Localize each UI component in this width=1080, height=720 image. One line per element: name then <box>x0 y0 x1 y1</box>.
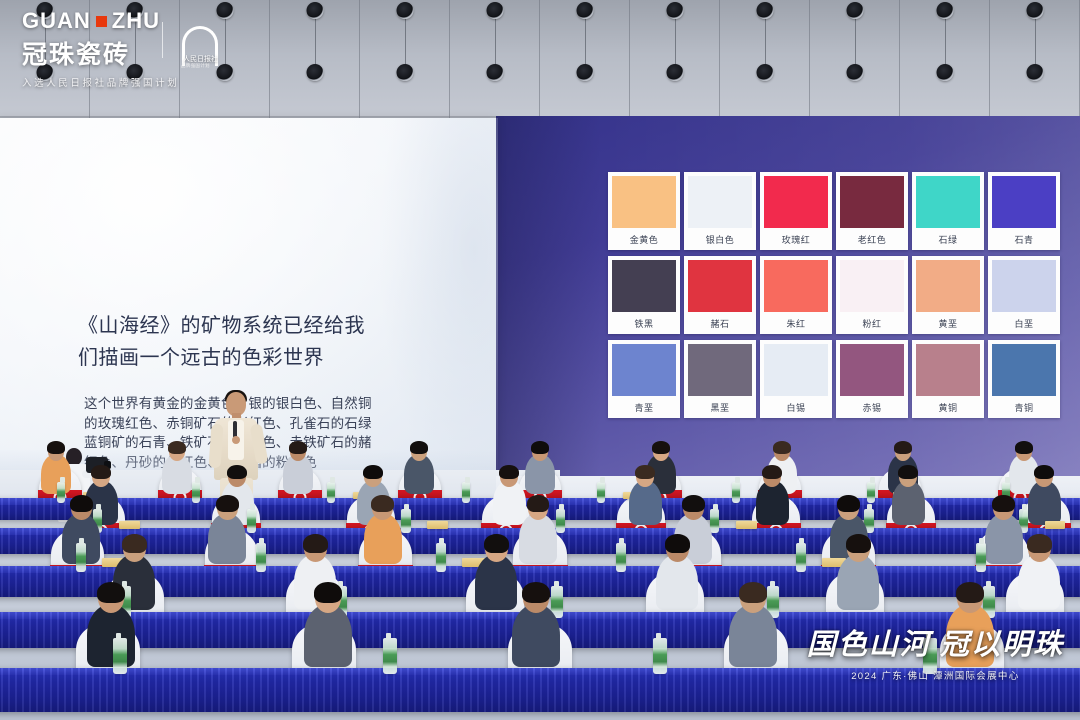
color-swatch: 铁黑 <box>608 256 680 334</box>
ceiling-spotlight-icon <box>486 2 503 19</box>
color-swatch: 石绿 <box>912 172 984 250</box>
audience-member-body <box>364 513 402 564</box>
ceiling-spotlight-icon <box>576 2 593 19</box>
table-nameplate <box>427 521 448 528</box>
swatch-color-chip <box>916 260 980 312</box>
audience-member-hair <box>522 582 550 603</box>
audience-member-hair <box>303 534 328 553</box>
swatch-label: 石绿 <box>916 228 980 250</box>
ceiling-panel <box>540 0 630 122</box>
audience-member-hair <box>47 441 65 454</box>
table-nameplate <box>1045 521 1066 528</box>
audience-member-hair <box>652 441 670 454</box>
color-swatch: 玫瑰红 <box>760 172 832 250</box>
swatch-label: 金黄色 <box>612 228 676 250</box>
brand-square-icon <box>96 16 107 27</box>
color-swatch-grid: 金黄色银白色玫瑰红老红色石绿石青铁黑赭石朱红粉红黄垩白垩青垩黑垩白锡赤锡黄铜青铜 <box>608 172 1060 418</box>
ceiling-panel <box>720 0 810 122</box>
slide-title: 《山海经》的矿物系统已经给我 们描画一个远古的色彩世界 <box>78 310 428 374</box>
water-bottle <box>327 482 335 503</box>
swatch-color-chip <box>612 260 676 312</box>
audience-member-hair <box>363 465 383 480</box>
color-swatch: 粉红 <box>836 256 908 334</box>
audience-member-body <box>512 604 559 666</box>
swatch-color-chip <box>688 344 752 396</box>
color-swatch: 白锡 <box>760 340 832 418</box>
swatch-color-chip <box>688 176 752 228</box>
audience-member-hair <box>168 441 186 454</box>
ceiling-panel <box>450 0 540 122</box>
water-bottle <box>710 509 719 534</box>
brand-divider <box>162 22 163 58</box>
speaker-hand <box>232 436 240 444</box>
swatch-label: 白垩 <box>992 312 1056 334</box>
audience-member-hair <box>216 495 239 512</box>
audience-member-hair <box>70 495 93 512</box>
ceiling-spotlight-icon <box>846 2 863 19</box>
brand-tagline: 入选人民日报社品牌强国计划 <box>22 75 222 89</box>
swatch-color-chip <box>992 176 1056 228</box>
audience-member-hair <box>122 534 147 553</box>
audience-member-hair <box>227 465 247 480</box>
ceiling-spotlight-icon <box>576 64 593 81</box>
audience-member-body <box>87 604 134 666</box>
water-bottle <box>867 482 875 503</box>
color-swatch: 黄铜 <box>912 340 984 418</box>
color-swatch: 白垩 <box>988 256 1060 334</box>
swatch-color-chip <box>688 260 752 312</box>
swatch-label: 黄铜 <box>916 396 980 418</box>
audience-member-hair <box>773 441 791 454</box>
ceiling-spotlight-icon <box>756 2 773 19</box>
event-watermark: 国色山河 冠以明珠 2024 广东·佛山 潭洲国际会展中心 <box>807 621 1064 682</box>
ceiling-spotlight-icon <box>936 2 953 19</box>
swatch-color-chip <box>612 176 676 228</box>
water-bottle <box>556 509 565 534</box>
swatch-color-chip <box>764 344 828 396</box>
light-wire <box>855 10 856 72</box>
color-swatch: 老红色 <box>836 172 908 250</box>
swatch-label: 青铜 <box>992 396 1056 418</box>
audience-member-body <box>729 604 776 666</box>
swatch-color-chip <box>840 260 904 312</box>
audience-member-hair <box>289 441 307 454</box>
ceiling-panel <box>900 0 990 122</box>
conference-photo-scene: 金黄色银白色玫瑰红老红色石绿石青铁黑赭石朱红粉红黄垩白垩青垩黑垩白锡赤锡黄铜青铜… <box>0 0 1080 720</box>
swatch-color-chip <box>764 176 828 228</box>
color-swatch: 黄垩 <box>912 256 984 334</box>
color-swatch: 金黄色 <box>608 172 680 250</box>
water-bottle <box>57 482 65 503</box>
water-bottle <box>113 638 127 674</box>
audience-member-hair <box>484 534 509 553</box>
audience-member-hair <box>91 465 111 480</box>
audience-member-hair <box>846 534 871 553</box>
ceiling-spotlight-icon <box>486 64 503 81</box>
right-projection-panel: 金黄色银白色玫瑰红老红色石绿石青铁黑赭石朱红粉红黄垩白垩青垩黑垩白锡赤锡黄铜青铜 <box>496 116 1080 498</box>
audience-member-body <box>304 604 351 666</box>
table-top-edge <box>0 566 1080 573</box>
light-wire <box>315 10 316 72</box>
audience-member-hair <box>665 534 690 553</box>
water-bottle <box>616 543 627 572</box>
color-swatch: 银白色 <box>684 172 756 250</box>
water-bottle <box>462 482 470 503</box>
water-bottle <box>192 482 200 503</box>
water-bottle <box>247 509 256 534</box>
ceiling-spotlight-icon <box>666 64 683 81</box>
swatch-label: 老红色 <box>840 228 904 250</box>
audience-member-body <box>519 513 557 564</box>
ceiling-panel <box>270 0 360 122</box>
color-swatch: 青铜 <box>988 340 1060 418</box>
swatch-label: 青垩 <box>612 396 676 418</box>
color-swatch: 赭石 <box>684 256 756 334</box>
water-bottle <box>383 638 397 674</box>
swatch-label: 石青 <box>992 228 1056 250</box>
light-wire <box>585 10 586 72</box>
ceiling-spotlight-icon <box>666 2 683 19</box>
swatch-label: 铁黑 <box>612 312 676 334</box>
audience-member-hair <box>527 495 550 512</box>
swatch-color-chip <box>992 260 1056 312</box>
ceiling-panel <box>360 0 450 122</box>
light-wire <box>1035 10 1036 72</box>
water-bottle <box>796 543 807 572</box>
ceiling-spotlight-icon <box>396 2 413 19</box>
swatch-color-chip <box>840 176 904 228</box>
light-wire <box>945 10 946 72</box>
swatch-label: 赤锡 <box>840 396 904 418</box>
audience-member-hair <box>635 465 655 480</box>
audience-member-hair <box>371 495 394 512</box>
audience-member-hair <box>1015 441 1033 454</box>
light-wire <box>405 10 406 72</box>
audience-member-hair <box>97 582 125 603</box>
partner-subtitle: 品牌强国计划 <box>181 63 210 69</box>
water-bottle <box>76 543 87 572</box>
audience-member-hair <box>956 582 984 603</box>
swatch-label: 赭石 <box>688 312 752 334</box>
audience-member-hair <box>739 582 767 603</box>
audience-member-hair <box>1027 534 1052 553</box>
water-bottle <box>256 543 267 572</box>
brand-logo: GUAN ZHU 冠珠瓷砖 入选人民日报社品牌强国计划 人民日报社 品牌强国计划 <box>22 8 222 89</box>
light-wire <box>675 10 676 72</box>
audience-member-body <box>837 554 879 610</box>
water-bottle <box>653 638 667 674</box>
swatch-label: 白锡 <box>764 396 828 418</box>
brand-english-2: ZHU <box>112 8 160 34</box>
watermark-subtitle: 2024 广东·佛山 潭洲国际会展中心 <box>807 668 1064 682</box>
audience-member-body <box>656 554 698 610</box>
ceiling-panel <box>990 0 1080 122</box>
brand-english-1: GUAN <box>22 8 91 34</box>
table-nameplate <box>119 521 140 528</box>
ceiling-spotlight-icon <box>1026 64 1043 81</box>
audience-member-hair <box>410 441 428 454</box>
swatch-color-chip <box>612 344 676 396</box>
audience-member-hair <box>762 465 782 480</box>
ceiling-spotlight-icon <box>306 2 323 19</box>
swatch-label: 朱红 <box>764 312 828 334</box>
audience-member-hair <box>499 465 519 480</box>
audience-member-hair <box>531 441 549 454</box>
swatch-label: 黑垩 <box>688 396 752 418</box>
light-wire <box>765 10 766 72</box>
swatch-label: 黄垩 <box>916 312 980 334</box>
water-bottle <box>401 509 410 534</box>
water-bottle <box>976 543 987 572</box>
ceiling-panel <box>810 0 900 122</box>
audience-member-body <box>1018 554 1060 610</box>
water-bottle <box>436 543 447 572</box>
audience-member-hair <box>682 495 705 512</box>
color-swatch: 黑垩 <box>684 340 756 418</box>
water-bottle <box>597 482 605 503</box>
color-swatch: 朱红 <box>760 256 832 334</box>
audience-member-hair <box>837 495 860 512</box>
water-bottle <box>732 482 740 503</box>
swatch-color-chip <box>916 344 980 396</box>
watermark-title: 国色山河 冠以明珠 <box>807 621 1064 663</box>
audience-member-body <box>985 513 1023 564</box>
ceiling-panel <box>630 0 720 122</box>
ceiling-spotlight-icon <box>1026 2 1043 19</box>
audience-member-hair <box>898 465 918 480</box>
audience-member-hair <box>894 441 912 454</box>
table-nameplate <box>736 521 757 528</box>
swatch-color-chip <box>916 176 980 228</box>
color-swatch: 青垩 <box>608 340 680 418</box>
swatch-color-chip <box>840 344 904 396</box>
ceiling-spotlight-icon <box>396 64 413 81</box>
color-swatch: 石青 <box>988 172 1060 250</box>
audience-member-body <box>208 513 246 564</box>
color-swatch: 赤锡 <box>836 340 908 418</box>
audience-member-hair <box>992 495 1015 512</box>
audience-member-hair <box>1034 465 1054 480</box>
ceiling-spotlight-icon <box>306 64 323 81</box>
ceiling-spotlight-icon <box>756 64 773 81</box>
swatch-label: 玫瑰红 <box>764 228 828 250</box>
swatch-color-chip <box>764 260 828 312</box>
audience-member-body <box>475 554 517 610</box>
ceiling-spotlight-icon <box>846 64 863 81</box>
audience-member-hair <box>314 582 342 603</box>
light-wire <box>495 10 496 72</box>
ceiling-spotlight-icon <box>936 64 953 81</box>
swatch-label: 粉红 <box>840 312 904 334</box>
swatch-color-chip <box>992 344 1056 396</box>
peoples-daily-emblem: 人民日报社 品牌强国计划 <box>174 24 226 76</box>
swatch-label: 银白色 <box>688 228 752 250</box>
